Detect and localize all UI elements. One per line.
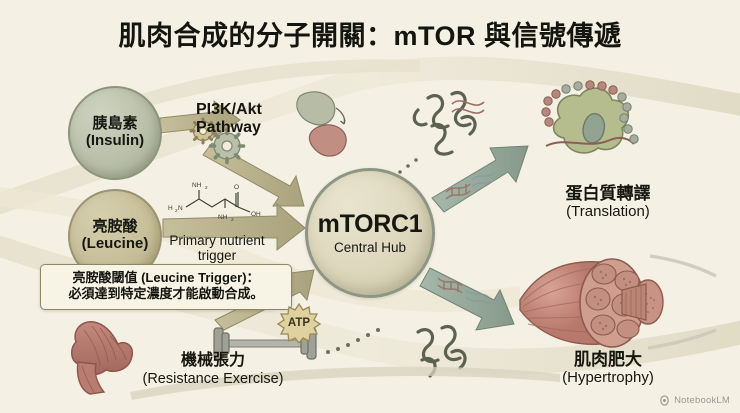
node-insulin-label-cn: 胰島素 xyxy=(92,116,137,133)
svg-text:NH: NH xyxy=(218,214,228,221)
atp-badge: ATP xyxy=(277,303,321,343)
arrow-mtorc1-to-translation xyxy=(432,146,528,212)
page-title: 肌肉合成的分子開關：mTOR 與信號傳遞 xyxy=(0,14,740,53)
node-mtorc1-label: mTORC1 xyxy=(318,210,423,238)
svg-text:H: H xyxy=(168,205,173,212)
infographic-canvas: H 2 N NH 2 NH 2 O OH xyxy=(0,0,740,413)
label-translation: 蛋白質轉譯 (Translation) xyxy=(528,184,688,221)
node-insulin[interactable]: 胰島素 (Insulin) xyxy=(68,86,162,180)
hypertrophy-label-cn: 肌肉肥大 xyxy=(528,350,688,369)
svg-text:OH: OH xyxy=(251,211,261,218)
node-mtorc1[interactable]: mTORC1 Central Hub xyxy=(305,168,435,298)
callout-leucine-threshold: 亮胺酸閾值 (Leucine Trigger)： 必須達到特定濃度才能啟動合成。 xyxy=(40,264,292,310)
svg-text:NH: NH xyxy=(192,182,202,189)
callout-line-2: 必須達到特定濃度才能啟動合成。 xyxy=(48,286,284,302)
hypertrophy-label-en: (Hypertrophy) xyxy=(528,370,688,387)
label-resistance-exercise: 機械張力 (Resistance Exercise) xyxy=(128,352,298,387)
node-leucine-label-cn: 亮胺酸 xyxy=(92,219,137,236)
atp-label: ATP xyxy=(288,317,310,329)
svg-text:N: N xyxy=(178,205,183,212)
watermark: NotebookLM xyxy=(659,395,730,406)
notebooklm-logo-icon xyxy=(659,395,670,406)
label-primary-nutrient-trigger: Primary nutrient trigger xyxy=(152,233,282,263)
watermark-text: NotebookLM xyxy=(674,395,730,406)
pathway-line-2: Pathway xyxy=(196,119,262,137)
node-leucine-label-en: (Leucine) xyxy=(82,236,149,253)
node-mtorc1-sublabel: Central Hub xyxy=(334,240,406,255)
translation-label-cn: 蛋白質轉譯 xyxy=(528,184,688,203)
label-hypertrophy: 肌肉肥大 (Hypertrophy) xyxy=(528,350,688,387)
resistance-label-en: (Resistance Exercise) xyxy=(128,371,298,387)
flexed-bicep-illustration xyxy=(72,322,133,394)
callout-line-1: 亮胺酸閾值 (Leucine Trigger)： xyxy=(48,270,284,286)
protein-blobs-illustration xyxy=(297,92,346,156)
label-pi3k-akt-pathway: PI3K/Akt Pathway xyxy=(196,101,262,137)
translation-label-en: (Translation) xyxy=(528,204,688,221)
svg-text:O: O xyxy=(234,184,239,191)
svg-text:2: 2 xyxy=(205,185,208,190)
svg-text:2: 2 xyxy=(231,217,234,222)
resistance-label-cn: 機械張力 xyxy=(128,352,298,370)
node-insulin-label-en: (Insulin) xyxy=(86,133,144,150)
amino-acid-structure-illustration: H 2 N NH 2 NH 2 O OH xyxy=(168,182,261,222)
pathway-line-1: PI3K/Akt xyxy=(196,101,262,119)
